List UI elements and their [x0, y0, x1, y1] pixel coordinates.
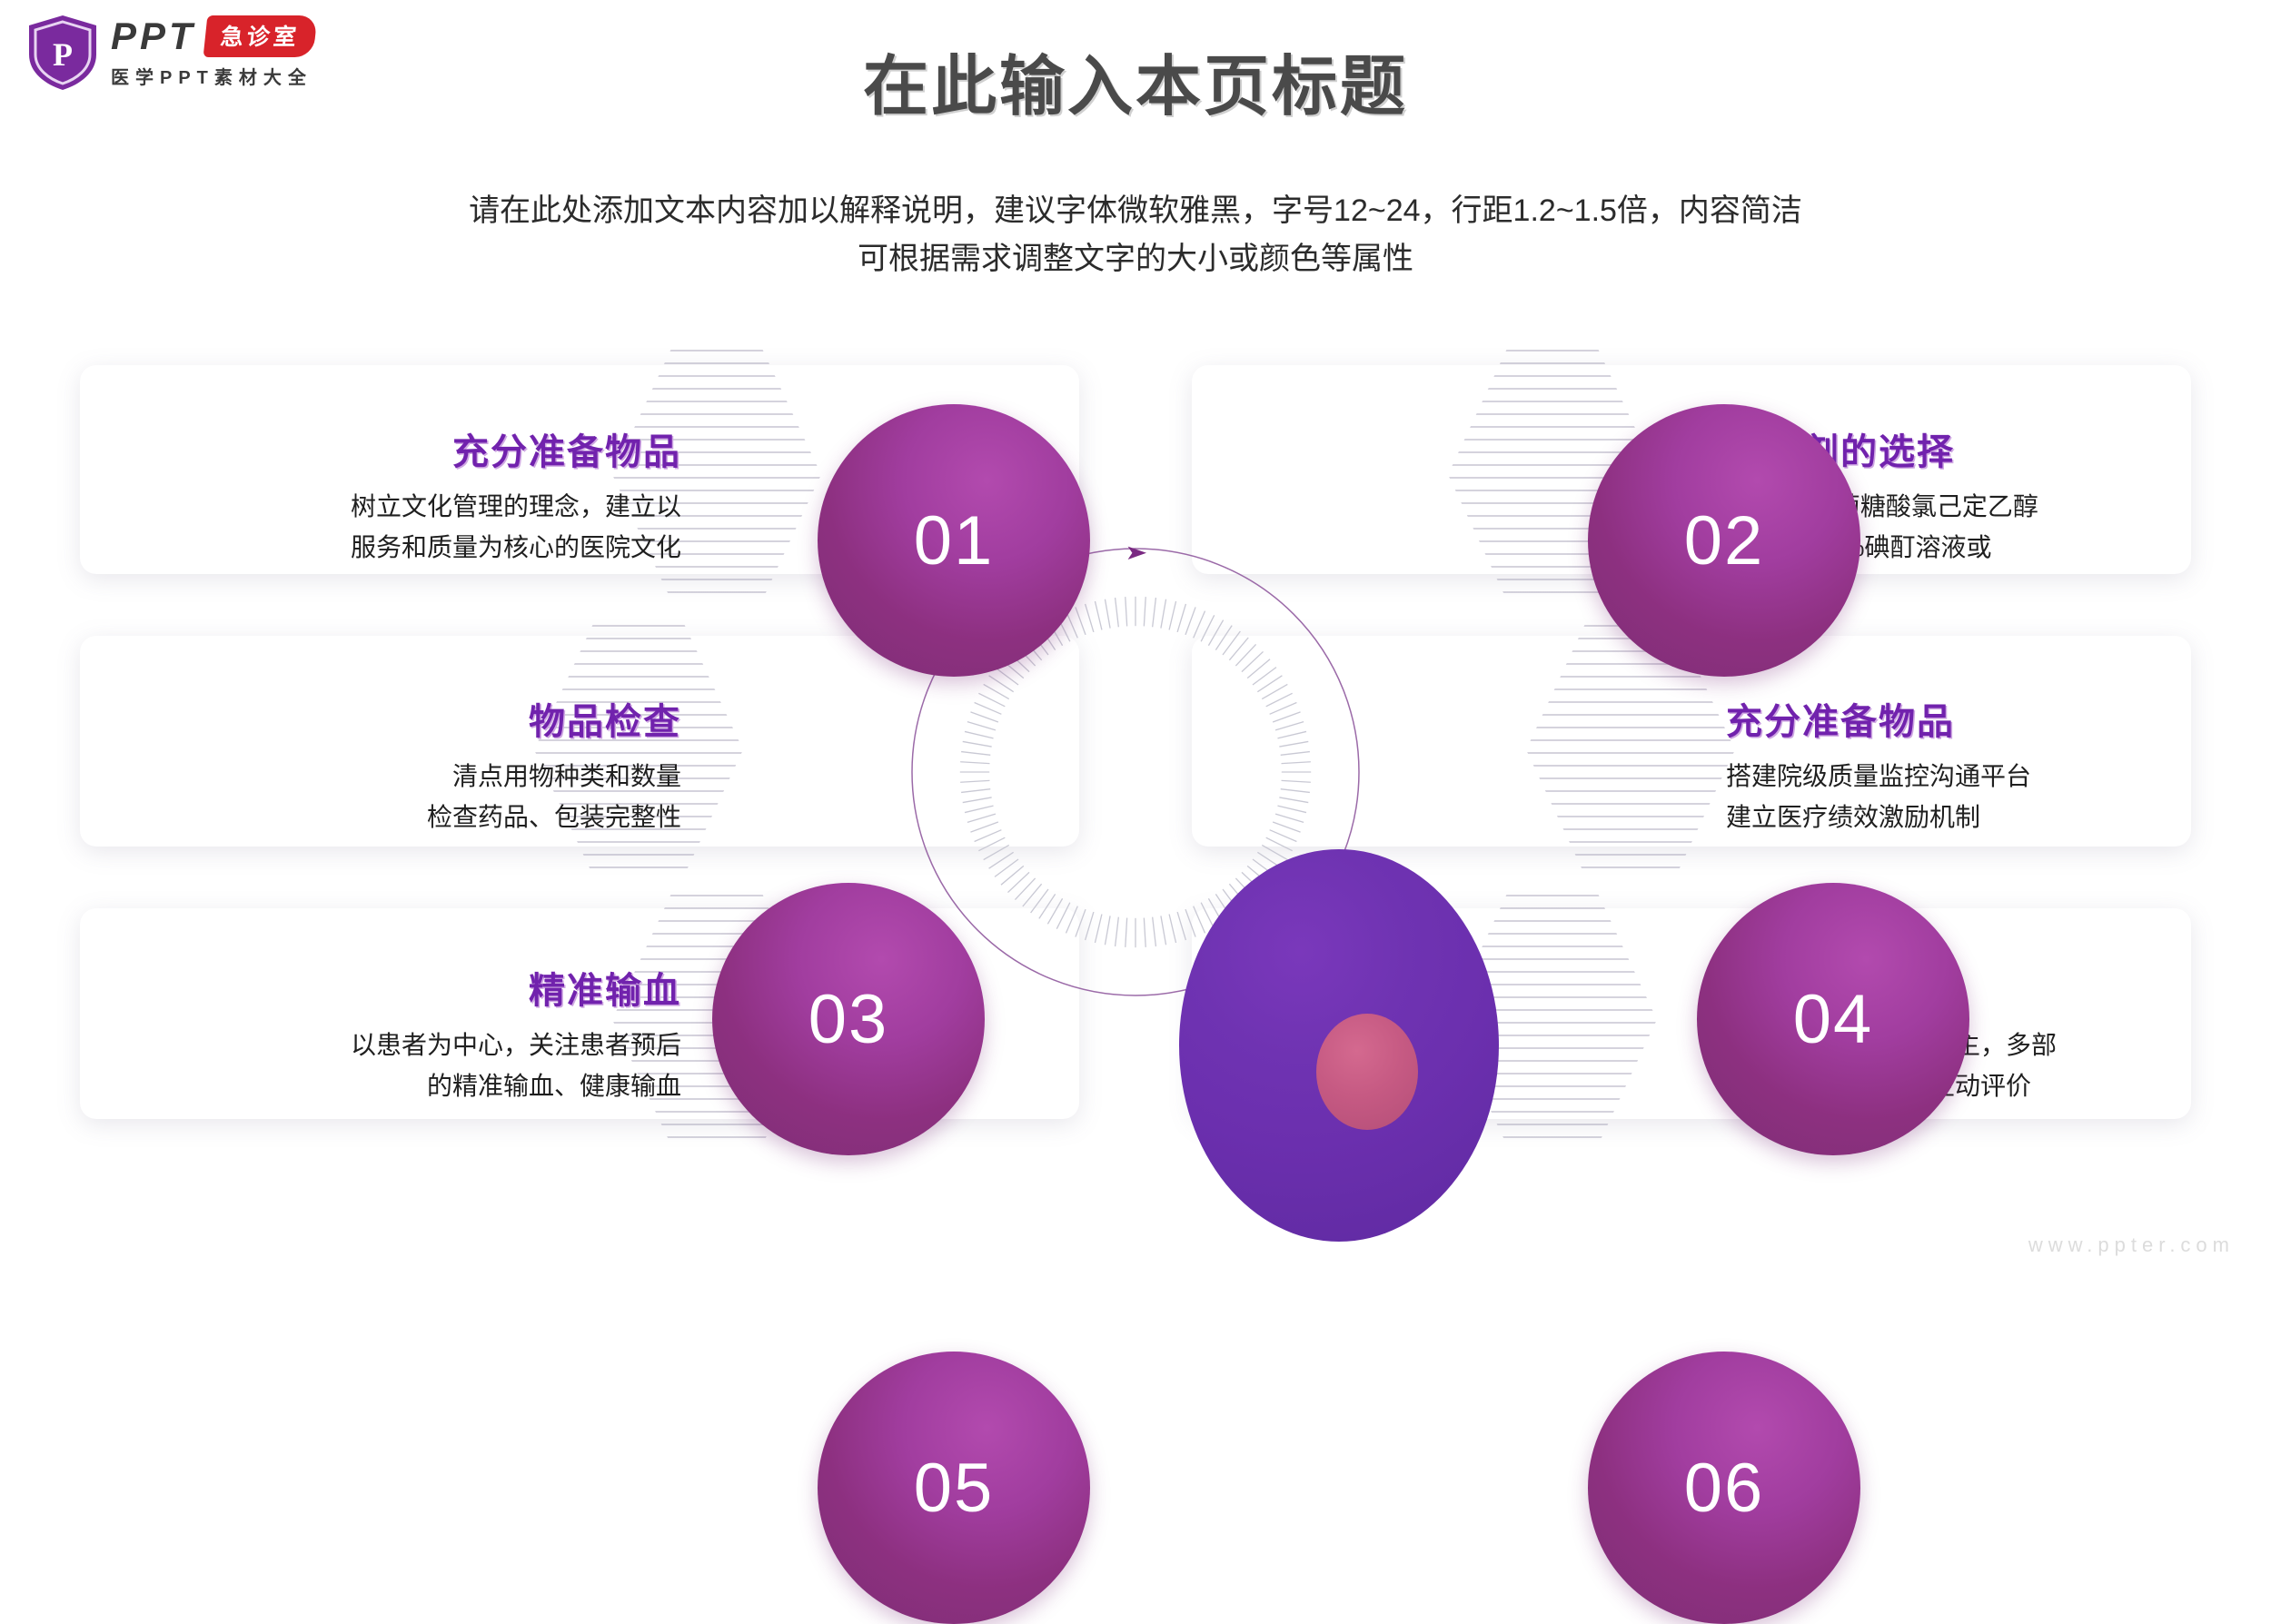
page-subtitle: 请在此处添加文本内容加以解释说明，建议字体微软雅黑，字号12~24，行距1.2~…: [0, 187, 2271, 282]
step-text-04: 充分准备物品 搭建院级质量监控沟通平台 建立医疗绩效激励机制: [1726, 692, 2235, 838]
subtitle-line-1: 请在此处添加文本内容加以解释说明，建议字体微软雅黑，字号12~24，行距1.2~…: [0, 187, 2271, 235]
step-desc-01-line1: 树立文化管理的理念，建立以: [173, 486, 681, 527]
step-heading-04: 充分准备物品: [1726, 692, 2235, 745]
site-watermark: www.ppter.com: [2028, 1233, 2235, 1257]
step-heading-05: 精准输血: [173, 961, 681, 1014]
step-badge-03[interactable]: 03: [712, 883, 985, 1155]
step-heading-01: 充分准备物品: [173, 422, 681, 475]
step-badge-06[interactable]: 06: [1588, 1352, 1860, 1624]
center-sphere-dot: [1316, 1014, 1418, 1130]
step-badge-01[interactable]: 01: [818, 404, 1090, 677]
cycle-diagram: 01 02 03 04 05 06: [636, 363, 1635, 1181]
step-desc-05-line2: 的精准输血、健康输血: [173, 1065, 681, 1106]
step-number-02: 02: [1684, 501, 1765, 580]
step-desc-03-line2: 检查药品、包装完整性: [173, 797, 681, 837]
step-desc-03-line1: 清点用物种类和数量: [173, 756, 681, 797]
step-number-06: 06: [1684, 1449, 1765, 1528]
step-badge-04[interactable]: 04: [1697, 883, 1969, 1155]
subtitle-line-2: 可根据需求调整文字的大小或颜色等属性: [0, 235, 2271, 283]
step-number-03: 03: [808, 980, 889, 1059]
step-desc-04-line1: 搭建院级质量监控沟通平台: [1726, 756, 2235, 797]
step-number-05: 05: [914, 1449, 995, 1528]
step-desc-01-line2: 服务和质量为核心的医院文化: [173, 527, 681, 568]
step-number-01: 01: [914, 501, 995, 580]
page-title: 在此输入本页标题: [0, 33, 2271, 128]
step-desc-04-line2: 建立医疗绩效激励机制: [1726, 797, 2235, 837]
step-badge-05[interactable]: 05: [818, 1352, 1090, 1624]
step-text-05: 精准输血 以患者为中心，关注患者预后 的精准输血、健康输血: [173, 961, 681, 1107]
step-badge-02[interactable]: 02: [1588, 404, 1860, 677]
step-heading-03: 物品检查: [173, 692, 681, 745]
step-desc-05-line1: 以患者为中心，关注患者预后: [173, 1025, 681, 1065]
step-text-01: 充分准备物品 树立文化管理的理念，建立以 服务和质量为核心的医院文化: [173, 422, 681, 569]
step-number-04: 04: [1793, 980, 1874, 1059]
step-text-03: 物品检查 清点用物种类和数量 检查药品、包装完整性: [173, 692, 681, 838]
center-sphere: [1179, 849, 1499, 1242]
